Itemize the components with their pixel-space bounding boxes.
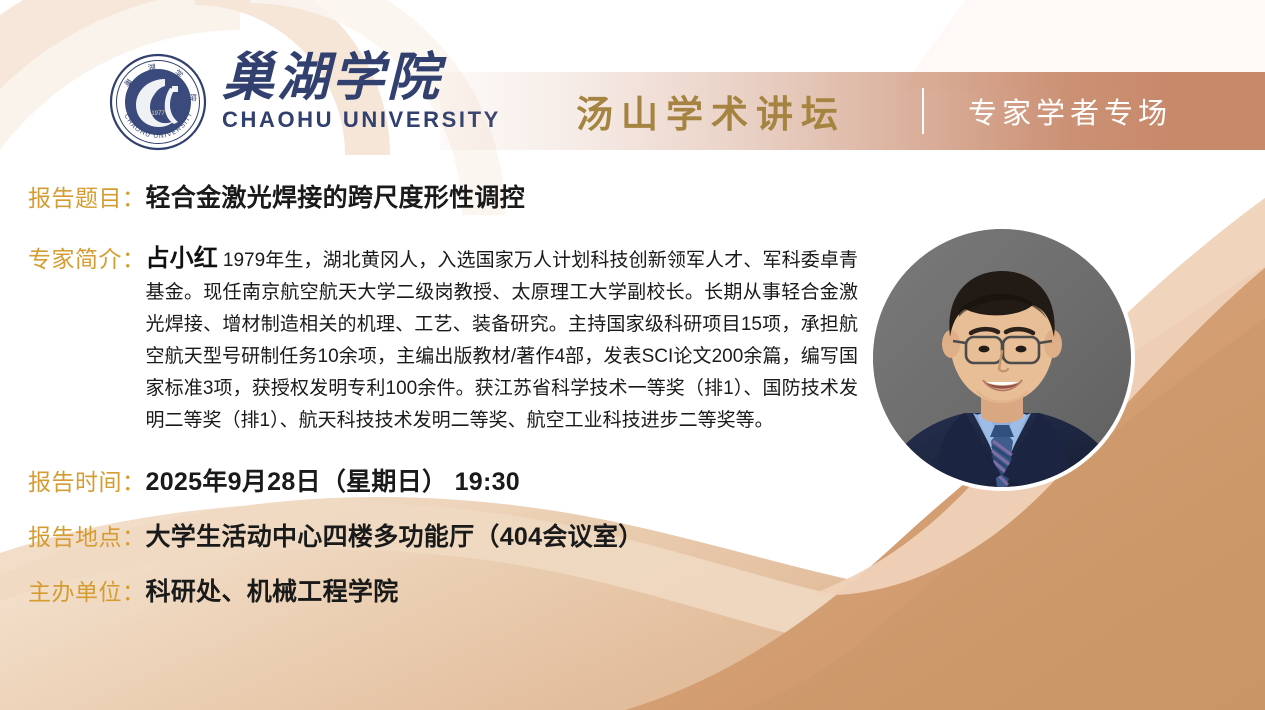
report-title-label: 报告题目： [28,179,146,213]
speaker-bio-row: 专家简介： 占小红1979年生，湖北黄冈人，入选国家万人计划科技创新领军人才、军… [28,243,858,437]
report-place-label: 报告地点： [28,518,146,552]
speaker-bio-text: 1979年生，湖北黄冈人，入选国家万人计划科技创新领军人才、军科委卓青基金。现任… [146,250,859,431]
report-host-row: 主办单位： 科研处、机械工程学院 [28,572,399,608]
lecture-poster: 1977 巢 湖 学 院 CHAOHU UNIVERSITY 巢湖学院 CHAO… [0,0,1265,710]
speaker-portrait-image [873,229,1131,487]
report-host-label: 主办单位： [28,573,146,607]
report-title-value: 轻合金激光焊接的跨尺度形性调控 [146,178,526,214]
report-place-row: 报告地点： 大学生活动中心四楼多功能厅（404会议室） [28,517,644,553]
speaker-bio-label: 专家简介： [28,243,146,275]
report-time-value: 2025年9月28日（星期日） 19:30 [146,462,521,498]
report-host-value: 科研处、机械工程学院 [146,572,399,608]
report-place-value: 大学生活动中心四楼多功能厅（404会议室） [146,517,644,553]
report-time-row: 报告时间： 2025年9月28日（星期日） 19:30 [28,462,520,498]
speaker-portrait [873,229,1131,487]
speaker-bio-body: 占小红1979年生，湖北黄冈人，入选国家万人计划科技创新领军人才、军科委卓青基金… [146,243,859,437]
report-title-row: 报告题目： 轻合金激光焊接的跨尺度形性调控 [28,178,525,214]
speaker-name: 占小红 [146,245,218,272]
report-time-label: 报告时间： [28,463,146,497]
